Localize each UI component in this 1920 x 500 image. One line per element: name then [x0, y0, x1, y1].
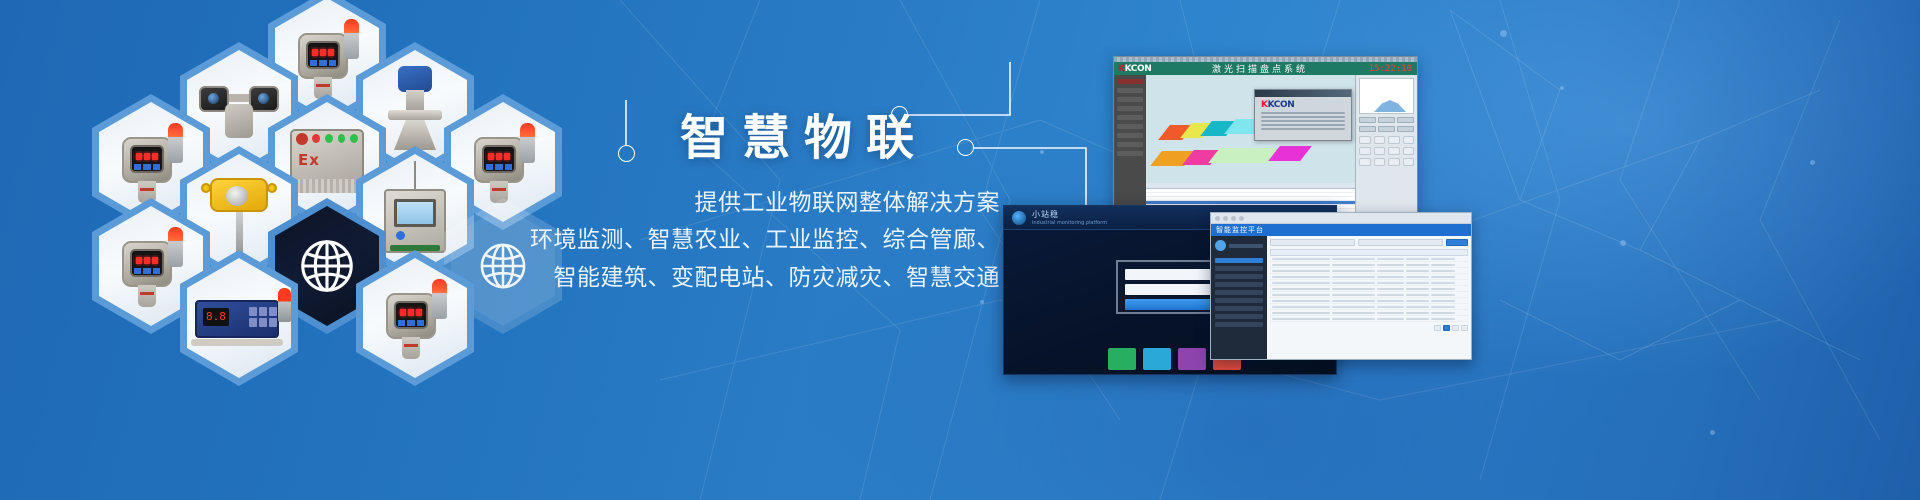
app-menubar: KKCON 激光扫描盘点系统 15:22:10	[1114, 62, 1417, 75]
sidebar-item[interactable]	[1215, 266, 1263, 271]
subtitle-block: 提供工业物联网整体解决方案 环境监测、智慧农业、工业监控、综合管廊、 智能建筑、…	[530, 185, 1000, 297]
browser-chrome[interactable]	[1211, 213, 1471, 224]
scan-canvas[interactable]: KKCON	[1146, 75, 1355, 216]
admin-main[interactable]	[1267, 236, 1471, 360]
avatar	[1215, 240, 1226, 251]
search-button[interactable]	[1446, 239, 1468, 246]
laser-inventory-screen[interactable]: KKCON 激光扫描盘点系统 15:22:10 KKCO	[1113, 56, 1418, 216]
page-current[interactable]	[1443, 325, 1450, 331]
dashboard-subtitle: industrial monitoring platform	[1032, 220, 1107, 226]
sidebar-item[interactable]	[1215, 298, 1263, 303]
dialog-logo: KKCON	[1255, 97, 1351, 110]
dashboard-title: 小站稳	[1032, 209, 1107, 220]
table-row[interactable]	[1270, 316, 1468, 322]
shield-icon	[1012, 211, 1026, 225]
about-dialog[interactable]: KKCON	[1254, 89, 1352, 141]
subtitle-line-2: 环境监测、智慧农业、工业监控、综合管廊、	[530, 222, 1000, 259]
subtitle-line-3: 智能建筑、变配电站、防灾减灾、智慧交通	[530, 260, 1000, 297]
sidebar-item[interactable]	[1215, 282, 1263, 287]
banner-stage: Ex	[0, 0, 1920, 500]
password-field[interactable]	[1125, 284, 1219, 295]
table-header	[1270, 249, 1468, 256]
sidebar-item[interactable]	[1215, 290, 1263, 295]
clock-display: 15:22:10	[1369, 64, 1417, 74]
page-title: 智慧物联	[680, 114, 928, 162]
admin-header: 智能监控平台	[1211, 224, 1471, 236]
subtitle-line-1: 提供工业物联网整体解决方案	[530, 185, 1000, 222]
dashboard-footer	[1004, 366, 1336, 374]
left-nav-panel[interactable]	[1114, 75, 1146, 216]
filter-bar[interactable]	[1270, 239, 1468, 246]
sidebar-item[interactable]	[1215, 274, 1263, 279]
username-field[interactable]	[1125, 269, 1219, 280]
mini-chart	[1359, 78, 1414, 114]
pagination[interactable]	[1270, 325, 1468, 331]
app-title: 激光扫描盘点系统	[1151, 62, 1368, 75]
admin-table-screen[interactable]: 智能监控平台	[1210, 212, 1472, 360]
dialog-titlebar	[1255, 90, 1351, 97]
sidebar-item[interactable]	[1215, 314, 1263, 319]
admin-title: 智能监控平台	[1211, 225, 1264, 235]
connector-dot-title	[618, 145, 635, 162]
connector-dot-bottom	[957, 139, 974, 156]
sidebar-item[interactable]	[1215, 306, 1263, 311]
right-tools-panel[interactable]	[1355, 75, 1417, 216]
sidebar-item[interactable]	[1215, 258, 1263, 263]
sidebar-item[interactable]	[1215, 322, 1263, 327]
headline-block: 智慧物联	[680, 114, 928, 162]
admin-sidebar[interactable]	[1211, 236, 1267, 360]
app-logo: KKCON	[1114, 64, 1151, 74]
login-button[interactable]	[1125, 299, 1219, 310]
user-profile[interactable]	[1211, 240, 1267, 255]
